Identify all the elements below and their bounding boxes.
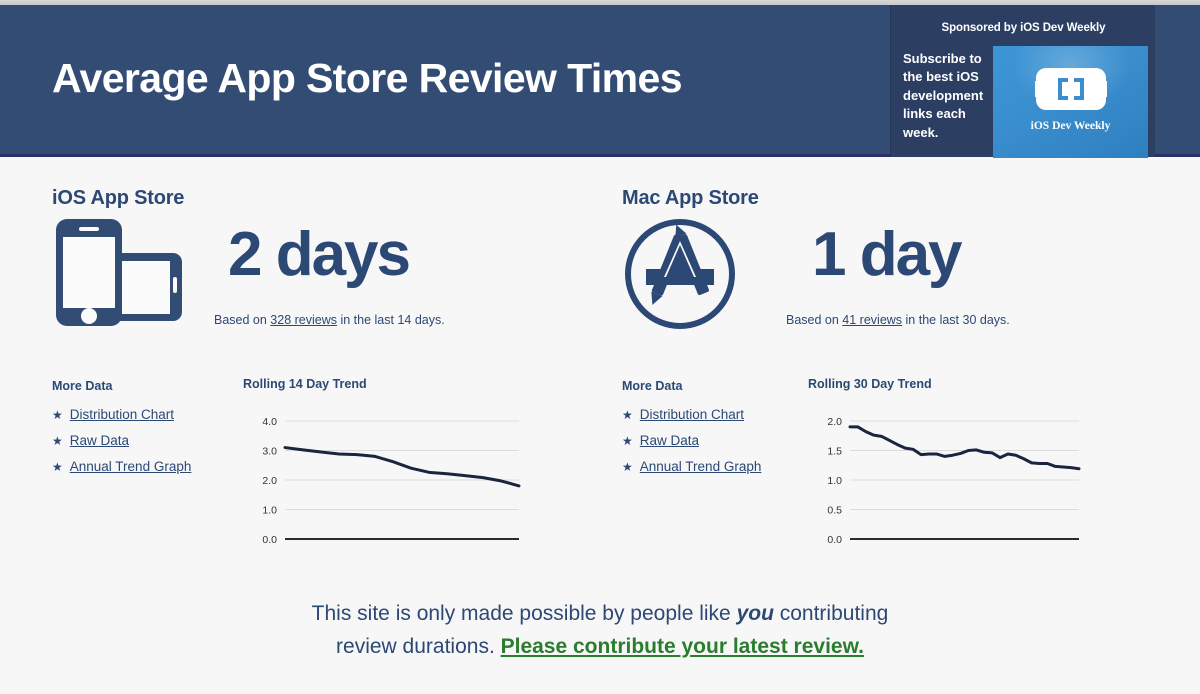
footer-text-c: review durations. (336, 635, 501, 658)
y-axis-tick-label: 1.0 (827, 475, 842, 487)
mac-more-data-links: ★Distribution Chart ★Raw Data ★Annual Tr… (622, 407, 761, 485)
star-icon: ★ (52, 434, 63, 448)
iphone-ipad-icon (50, 215, 185, 330)
y-axis-tick-label: 2.0 (827, 416, 842, 428)
sponsor-heading: Sponsored by iOS Dev Weekly (891, 22, 1156, 34)
footer-text-a: This site is only made possible by peopl… (312, 602, 737, 625)
ios-link-raw-data[interactable]: Raw Data (70, 433, 129, 448)
star-icon: ★ (622, 408, 633, 422)
footer-line-1: This site is only made possible by peopl… (0, 598, 1200, 631)
mac-trend-chart-block: Rolling 30 Day Trend 2.01.51.00.50.0 (808, 377, 1083, 553)
ios-link-annual-trend-graph[interactable]: Annual Trend Graph (70, 459, 192, 474)
list-item: ★Distribution Chart (622, 407, 761, 422)
mac-more-data-title: More Data (622, 379, 682, 393)
mac-store-title: Mac App Store (622, 187, 759, 210)
ios-trend-chart: 4.03.02.01.00.0 (243, 413, 523, 553)
mac-average-value: 1 day (812, 219, 961, 290)
footer-line-2: review durations. Please contribute your… (0, 631, 1200, 664)
mac-app-store-icon (618, 215, 743, 333)
brackets-icon (1034, 64, 1108, 114)
star-icon: ★ (622, 460, 633, 474)
footer-message: This site is only made possible by peopl… (0, 598, 1200, 663)
y-axis-tick-label: 1.5 (827, 446, 842, 458)
ios-reviews-link[interactable]: 328 reviews (270, 313, 337, 327)
mac-based-on: Based on 41 reviews in the last 30 days. (786, 313, 1010, 327)
page-root: Average App Store Review Times Sponsored… (0, 0, 1200, 694)
list-item: ★Annual Trend Graph (52, 459, 191, 474)
mac-based-on-suffix: in the last 30 days. (902, 313, 1010, 327)
sponsor-body-text: Subscribe to the best iOS development li… (903, 50, 999, 142)
sponsor-logo-tile[interactable]: iOS Dev Weekly (993, 46, 1148, 158)
star-icon: ★ (622, 434, 633, 448)
page-title: Average App Store Review Times (52, 55, 682, 102)
ios-based-on: Based on 328 reviews in the last 14 days… (214, 313, 445, 327)
ios-based-on-suffix: in the last 14 days. (337, 313, 445, 327)
contribute-review-link[interactable]: Please contribute your latest review. (501, 635, 864, 658)
trend-line (850, 427, 1079, 469)
star-icon: ★ (52, 460, 63, 474)
y-axis-tick-label: 0.0 (827, 534, 842, 546)
ios-more-data-links: ★Distribution Chart ★Raw Data ★Annual Tr… (52, 407, 191, 485)
mac-link-annual-trend-graph[interactable]: Annual Trend Graph (640, 459, 762, 474)
list-item: ★Distribution Chart (52, 407, 191, 422)
mac-based-on-prefix: Based on (786, 313, 842, 327)
footer-text-b: contributing (774, 602, 888, 625)
ios-more-data-title: More Data (52, 379, 112, 393)
ios-link-distribution-chart[interactable]: Distribution Chart (70, 407, 174, 422)
y-axis-tick-label: 0.0 (262, 534, 277, 546)
list-item: ★Raw Data (622, 433, 761, 448)
ios-chart-title: Rolling 14 Day Trend (243, 377, 523, 391)
y-axis-tick-label: 4.0 (262, 416, 277, 428)
mac-chart-title: Rolling 30 Day Trend (808, 377, 1083, 391)
sponsor-banner[interactable]: Sponsored by iOS Dev Weekly Subscribe to… (890, 5, 1155, 157)
y-axis-tick-label: 1.0 (262, 505, 277, 517)
y-axis-tick-label: 2.0 (262, 475, 277, 487)
mac-trend-chart: 2.01.51.00.50.0 (808, 413, 1083, 553)
ios-trend-chart-block: Rolling 14 Day Trend 4.03.02.01.00.0 (243, 377, 523, 553)
list-item: ★Annual Trend Graph (622, 459, 761, 474)
sponsor-logo-caption: iOS Dev Weekly (993, 120, 1148, 132)
list-item: ★Raw Data (52, 433, 191, 448)
ios-based-on-prefix: Based on (214, 313, 270, 327)
star-icon: ★ (52, 408, 63, 422)
ios-average-value: 2 days (228, 219, 409, 290)
y-axis-tick-label: 0.5 (827, 505, 842, 517)
mac-link-raw-data[interactable]: Raw Data (640, 433, 699, 448)
mac-link-distribution-chart[interactable]: Distribution Chart (640, 407, 744, 422)
footer-emphasis: you (737, 602, 774, 625)
ios-store-title: iOS App Store (52, 187, 184, 210)
mac-reviews-link[interactable]: 41 reviews (842, 313, 902, 327)
y-axis-tick-label: 3.0 (262, 446, 277, 458)
